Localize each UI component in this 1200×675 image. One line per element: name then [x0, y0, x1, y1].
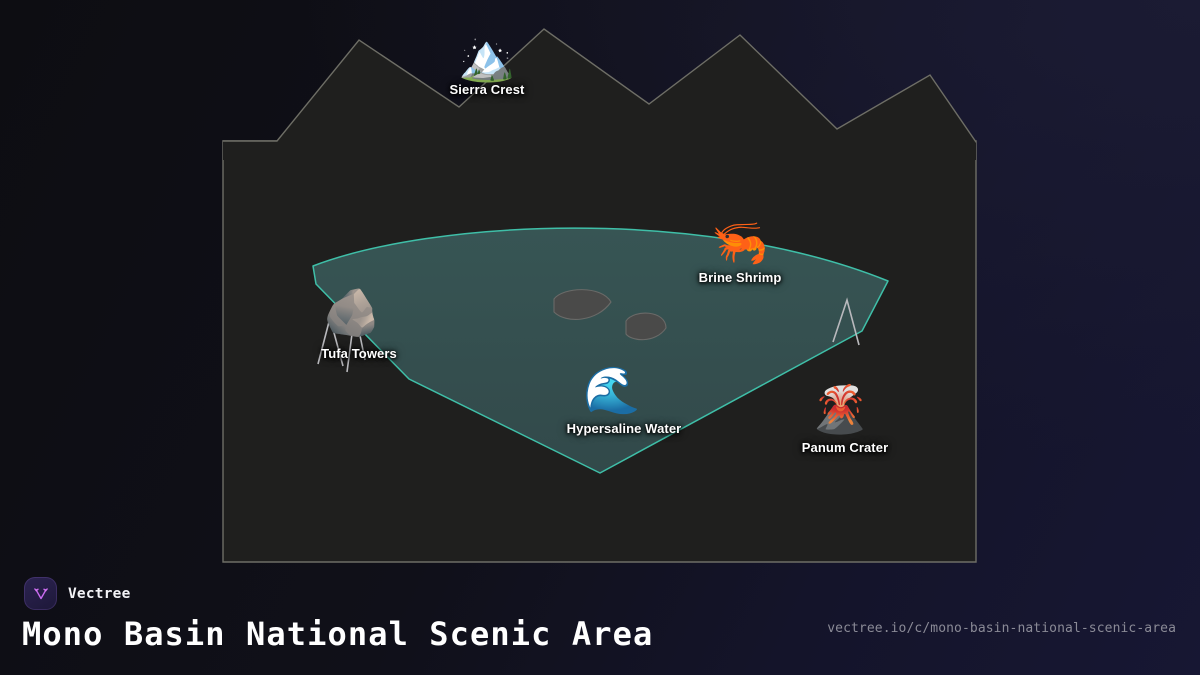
shrimp-icon[interactable]: 🦐 — [711, 219, 768, 265]
footer-bar: Vectree Mono Basin National Scenic Area … — [0, 563, 1200, 675]
snow-capped-mountain-icon[interactable]: 🏔️ — [458, 34, 515, 80]
volcano-icon[interactable]: 🌋 — [811, 386, 868, 432]
rock-icon[interactable]: 🪨 — [323, 289, 380, 335]
page-url[interactable]: vectree.io/c/mono-basin-national-scenic-… — [827, 621, 1176, 636]
brand-row[interactable]: Vectree — [24, 577, 131, 610]
scenic-area-diagram-canvas: 🏔️ Sierra Crest 🦐 Brine Shrimp 🪨 Tufa To… — [0, 0, 1200, 675]
brand-name: Vectree — [68, 586, 131, 602]
water-wave-icon[interactable]: 🌊 — [583, 367, 640, 413]
page-title: Mono Basin National Scenic Area — [22, 615, 653, 653]
vectree-branch-logo-icon — [24, 577, 57, 610]
mountain-ridge-silhouette — [223, 29, 976, 160]
